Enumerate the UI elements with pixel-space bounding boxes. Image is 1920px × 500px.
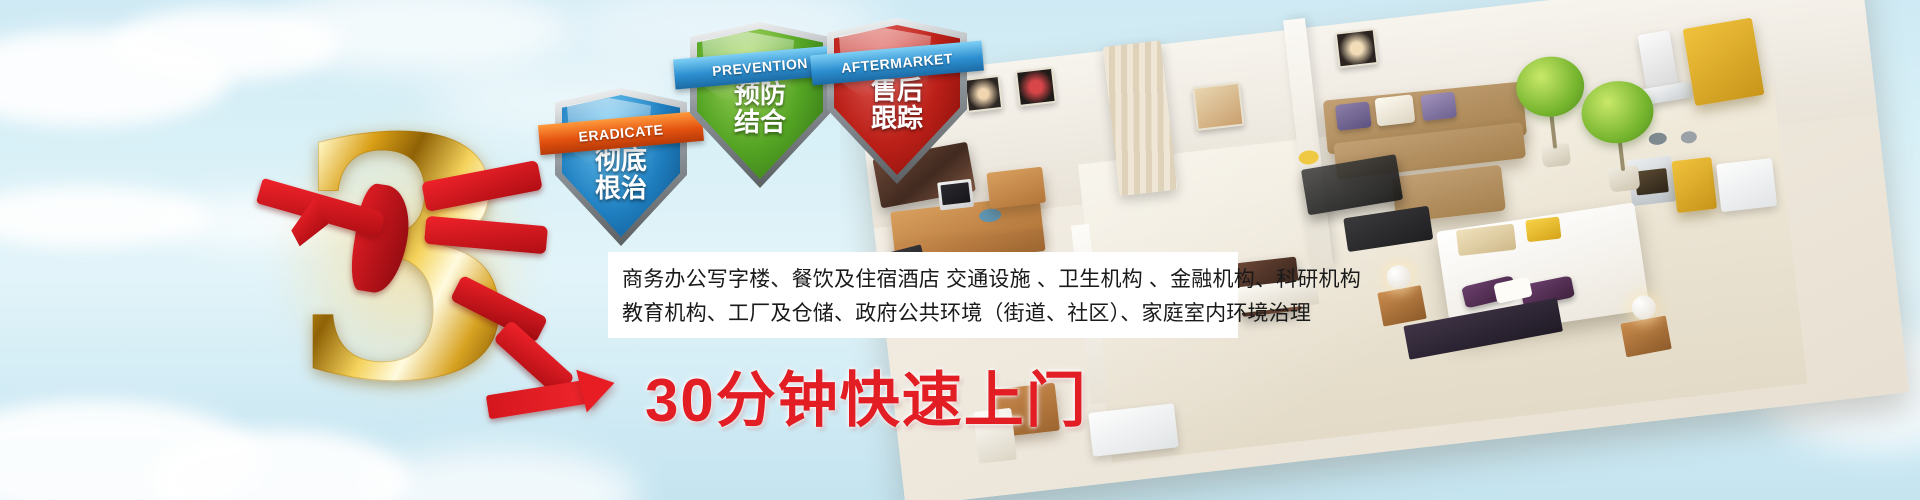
promotional-banner: 3 彻底 根治 ERADICATE 预防 结合 PREVENTION (0, 0, 1920, 500)
headline-text: 30分钟快速上门 (645, 352, 1088, 439)
green-shield-badge: 预防 结合 PREVENTION (690, 22, 830, 188)
red-shield-badge: 售后 跟踪 AFTERMARKET (827, 18, 967, 184)
shield-label-cn-line2: 跟踪 (827, 104, 967, 132)
gold-number-three-with-red-ribbon: 3 (255, 95, 555, 425)
blue-shield-badge: 彻底 根治 ERADICATE (555, 88, 687, 246)
shield-label-cn: 售后 跟踪 (827, 76, 967, 132)
hero-number: 3 (255, 95, 555, 425)
service-scope-line-1: 商务办公写字楼、餐饮及住宿酒店 交通设施 、卫生机构 、金融机构、科研机构 (622, 263, 1230, 293)
service-scope-panel: 商务办公写字楼、餐饮及住宿酒店 交通设施 、卫生机构 、金融机构、科研机构 教育… (608, 252, 1238, 338)
shield-label-cn: 预防 结合 (690, 80, 830, 136)
service-scope-line-2: 教育机构、工厂及仓储、政府公共环境（街道、社区）、家庭室内环境治理 (622, 297, 1230, 327)
shield-label-cn-line2: 根治 (555, 174, 687, 202)
shield-label-cn-line2: 结合 (690, 108, 830, 136)
shield-label-cn: 彻底 根治 (555, 146, 687, 202)
